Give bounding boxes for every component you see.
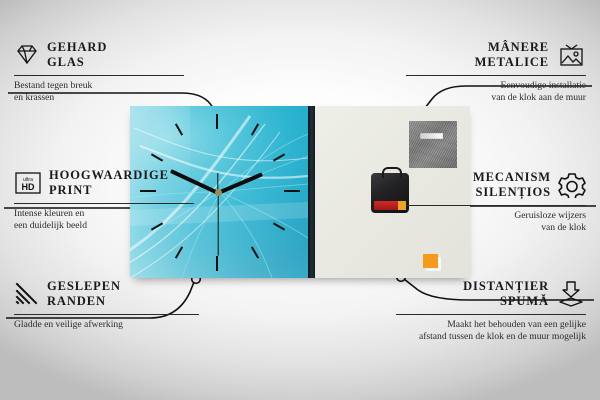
callout-header: GEHARD GLAS	[14, 40, 184, 69]
svg-text:HD: HD	[22, 182, 35, 192]
callout-subtitle: Bestand tegen breuk en krassen	[14, 80, 184, 103]
callout-divider	[406, 75, 586, 76]
tick-mark	[216, 256, 218, 271]
hand-center-cap	[215, 189, 222, 196]
callout-subtitle: Geruisloze wijzers van de klok	[406, 210, 586, 233]
callout-title: MECANISM SILENȚIOS	[473, 170, 551, 199]
callout-distantier-spuma: DISTANȚIER SPUMĂ Maakt het behouden van …	[396, 279, 586, 342]
callout-header: DISTANȚIER SPUMĂ	[396, 279, 586, 308]
callout-divider	[396, 314, 586, 315]
callout-gehard-glas: GEHARD GLAS Bestand tegen breuk en krass…	[14, 40, 184, 103]
callout-subtitle: Gladde en veilige afwerking	[14, 319, 199, 331]
spacer-arrow-icon	[556, 281, 586, 307]
tick-mark	[216, 114, 218, 129]
callout-title: HOOGWAARDIGE PRINT	[49, 168, 169, 197]
ultra-hd-icon: ultra HD	[14, 171, 42, 195]
infographic-canvas: GEHARD GLAS Bestand tegen breuk en krass…	[0, 0, 600, 400]
metal-hanger	[409, 121, 457, 168]
callout-geslepen-randen: GESLEPEN RANDEN Gladde en veilige afwerk…	[14, 279, 199, 331]
callout-mecanism-silentios: MECANISM SILENȚIOS Geruisloze wijzers va…	[406, 170, 586, 233]
callout-subtitle: Maakt het behouden van een gelijke afsta…	[396, 319, 586, 342]
callout-divider	[14, 203, 194, 204]
callout-divider	[406, 205, 586, 206]
callout-hoogwaardige-print: ultra HD HOOGWAARDIGE PRINT Intense kleu…	[14, 168, 194, 231]
callout-header: MÂNERE METALICE	[406, 40, 586, 69]
clock-mechanism	[371, 173, 409, 213]
callout-header: ultra HD HOOGWAARDIGE PRINT	[14, 168, 194, 197]
callout-divider	[14, 314, 199, 315]
callout-subtitle: Eenvoudige installatie van de klok aan d…	[406, 80, 586, 103]
picture-frame-hanger-icon	[556, 43, 586, 67]
foam-spacer	[423, 254, 438, 268]
second-hand	[217, 193, 218, 256]
callout-title: GESLEPEN RANDEN	[47, 279, 121, 308]
clock-side-edge	[308, 106, 315, 278]
diamond-icon	[14, 44, 40, 66]
battery-plus-marker	[398, 201, 406, 210]
callout-subtitle: Intense kleuren en een duidelijk beeld	[14, 208, 194, 231]
hanger-slot	[420, 133, 443, 139]
callout-title: GEHARD GLAS	[47, 40, 107, 69]
callout-title: MÂNERE METALICE	[475, 40, 549, 69]
mechanism-hanging-loop	[382, 167, 402, 178]
callout-manere-metalice: MÂNERE METALICE Eenvoudige installatie v…	[406, 40, 586, 103]
bevelled-edges-icon	[14, 282, 40, 306]
callout-header: MECANISM SILENȚIOS	[406, 170, 586, 199]
callout-header: GESLEPEN RANDEN	[14, 279, 199, 308]
gear-icon	[558, 172, 586, 198]
callout-divider	[14, 75, 184, 76]
tick-mark	[284, 190, 300, 192]
callout-title: DISTANȚIER SPUMĂ	[463, 279, 549, 308]
